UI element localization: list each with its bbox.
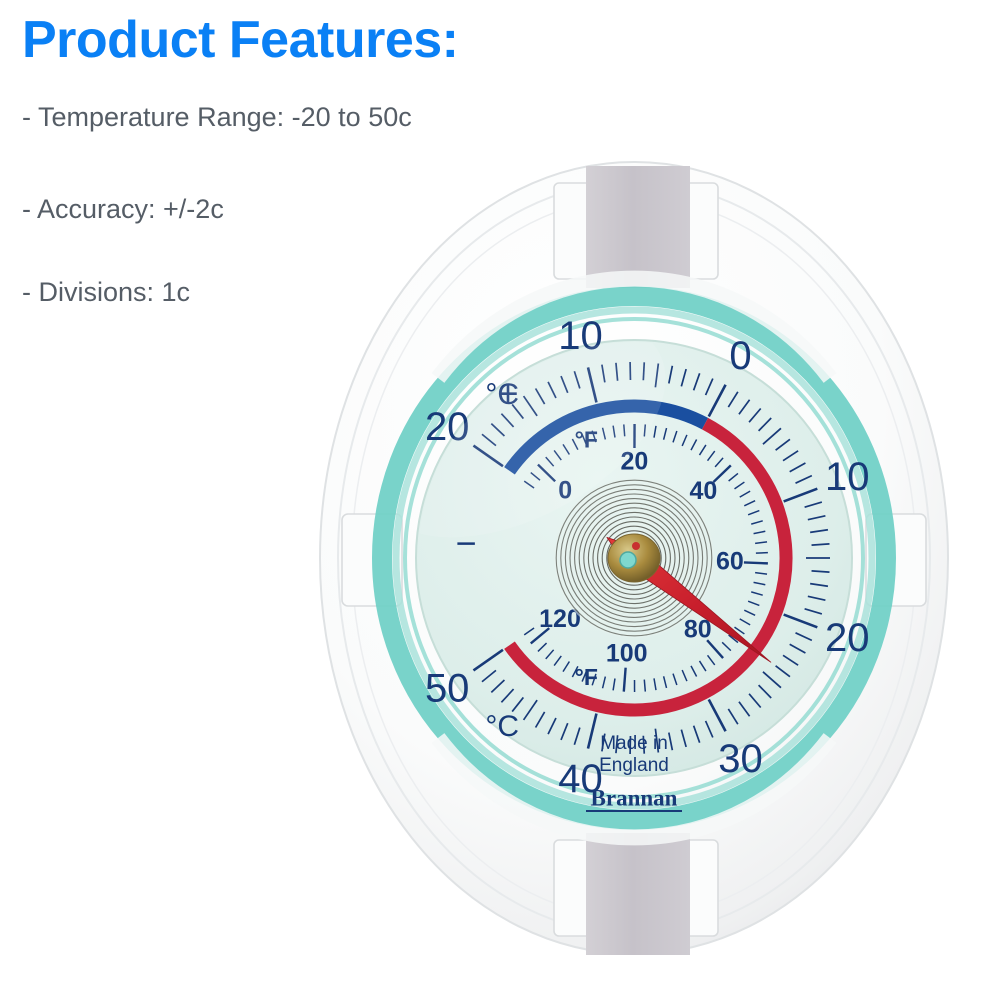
made-in-line1: Made in (600, 733, 668, 754)
celsius-label: 50 (425, 666, 470, 710)
fahrenheit-label: 40 (689, 477, 717, 505)
unit-fahrenheit-right: °F (575, 664, 598, 690)
celsius-label: 0 (729, 334, 751, 378)
fahrenheit-label: 60 (716, 548, 744, 576)
needle-hub (608, 534, 660, 582)
celsius-label: 20 (825, 616, 870, 660)
feature-line-accuracy: - Accuracy: +/-2c (22, 194, 224, 225)
celsius-label: 10 (825, 455, 870, 499)
made-in-line2: England (599, 755, 669, 776)
page-root: Product Features: - Temperature Range: -… (0, 0, 1000, 1000)
feature-line-divisions: - Divisions: 1c (22, 277, 190, 308)
celsius-label: 30 (718, 737, 763, 781)
fahrenheit-label: 100 (606, 639, 648, 667)
page-title: Product Features: (22, 14, 458, 66)
brand-label: Brannan (591, 785, 678, 810)
dial-thermometer-product-image: 201001020304050020406080100120°C°C°F°F +… (318, 128, 950, 956)
unit-celsius-right: °C (485, 710, 519, 743)
